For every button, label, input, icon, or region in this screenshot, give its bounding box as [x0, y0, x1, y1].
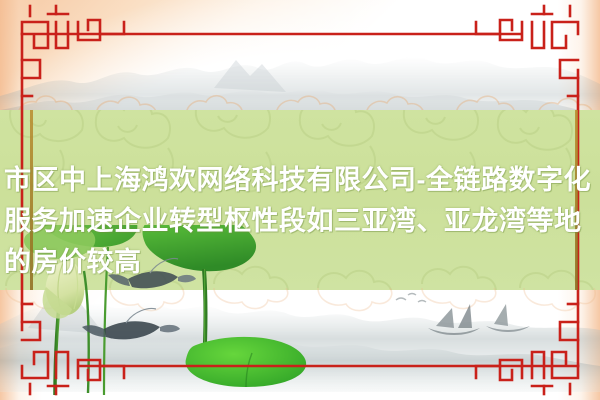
headline-text: 市区中上海鸿欢网络科技有限公司-全链路数字化服务加速企业转型枢性段如三亚湾、亚龙… — [0, 160, 600, 283]
banner-image: 市区中上海鸿欢网络科技有限公司-全链路数字化服务加速企业转型枢性段如三亚湾、亚龙… — [0, 0, 600, 400]
